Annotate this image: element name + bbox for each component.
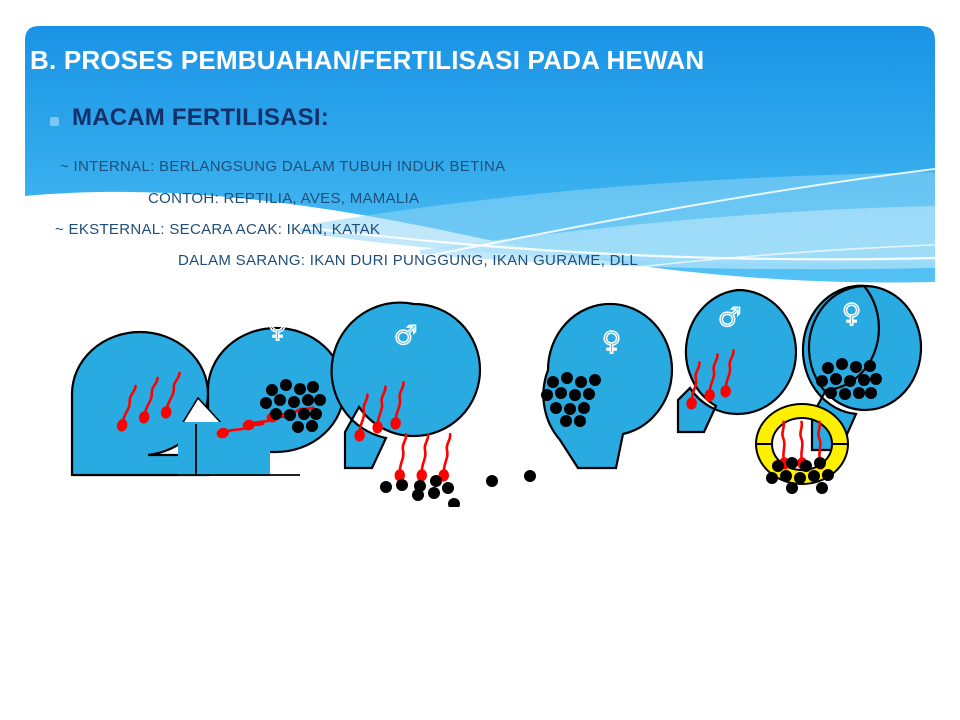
- sperm-released-2: [394, 434, 452, 482]
- page-title: B. PROSES PEMBUAHAN/FERTILISASI PADA HEW…: [30, 45, 910, 76]
- diagram-group-internal: ♂ ♀: [72, 301, 344, 476]
- male-symbol-3: ♂: [718, 303, 741, 333]
- detail-line-external: ~ EKSTERNAL: SECARA ACAK: IKAN, KATAK: [55, 221, 380, 238]
- slide-canvas: B. PROSES PEMBUAHAN/FERTILISASI PADA HEW…: [0, 0, 960, 720]
- fertilization-diagram-graphic: ♂ ♀: [0, 272, 960, 507]
- detail-line-external-nest: DALAM SARANG: IKAN DURI PUNGGUNG, IKAN G…: [178, 252, 638, 269]
- subtitle: MACAM FERTILISASI:: [72, 104, 672, 132]
- bottom-text-block: HEWAN YANG FERLILISASINYA EKSTERNAL MENG…: [0, 500, 960, 690]
- fertilization-diagram: ♂ ♀: [0, 272, 960, 507]
- detail-line-internal: ~ INTERNAL: BERLANGSUNG DALAM TUBUH INDU…: [60, 158, 505, 175]
- female-symbol-1: ♀: [268, 314, 287, 344]
- male-symbol-2: ♂: [394, 321, 417, 351]
- female-symbol-2: ♀: [602, 327, 621, 357]
- diagram-group-external-nest: ♂ ♀: [678, 286, 921, 494]
- female-symbol-3: ♀: [842, 299, 861, 329]
- subtitle-bullet-icon: [50, 117, 59, 126]
- banner-graphic: [0, 0, 960, 290]
- diagram-group-external-random: ♂ ♀: [332, 303, 672, 507]
- male-symbol-1: ♂: [140, 301, 163, 331]
- header-banner: B. PROSES PEMBUAHAN/FERTILISASI PADA HEW…: [0, 0, 960, 290]
- detail-line-internal-examples: CONTOH: REPTILIA, AVES, MAMALIA: [148, 190, 419, 207]
